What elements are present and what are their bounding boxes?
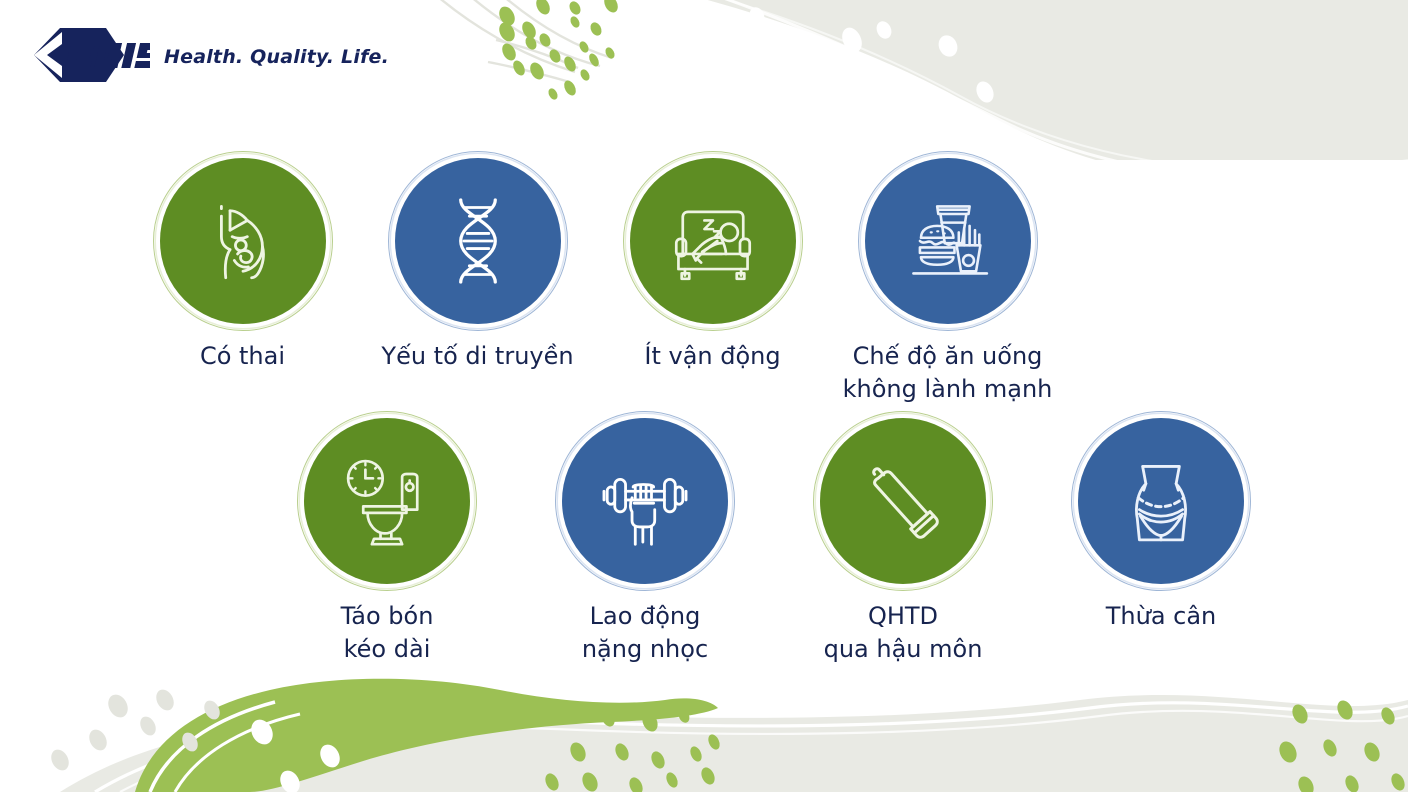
pregnant-woman-icon xyxy=(189,187,297,295)
icon-badge[interactable] xyxy=(630,158,796,324)
egis-hexagon-chevron-logo xyxy=(28,26,150,84)
risk-factor-label: Lao động nặng nhọc xyxy=(582,600,708,666)
person-sleeping-on-couch-icon xyxy=(659,187,767,295)
dna-helix-icon xyxy=(424,187,532,295)
risk-factor-row-2: Táo bón kéo dài xyxy=(258,418,1293,666)
risk-factor-label: Táo bón kéo dài xyxy=(341,600,434,666)
risk-factor-label: Ít vận động xyxy=(644,340,780,373)
overweight-body-measuring-tape-icon xyxy=(1107,447,1215,555)
risk-factor-row-1: Có thai Yếu xyxy=(125,158,1160,406)
icon-badge[interactable] xyxy=(820,418,986,584)
risk-factor-item[interactable]: Ít vận động xyxy=(595,158,830,406)
icon-badge[interactable] xyxy=(1078,418,1244,584)
icon-badge[interactable] xyxy=(865,158,1031,324)
brand-logo: Health. Quality. Life. xyxy=(28,26,389,84)
risk-factor-item[interactable]: Táo bón kéo dài xyxy=(258,418,516,666)
hand-lifting-dumbbell-icon xyxy=(591,447,699,555)
icon-badge[interactable] xyxy=(395,158,561,324)
bottom-green-leaf-dots xyxy=(543,707,722,792)
icon-badge[interactable] xyxy=(160,158,326,324)
risk-factor-item[interactable]: Yếu tố di truyền xyxy=(360,158,595,406)
risk-factor-item[interactable]: QHTD qua hậu môn xyxy=(774,418,1032,666)
risk-factor-label: Chế độ ăn uống không lành mạnh xyxy=(843,340,1053,406)
risk-factor-item[interactable]: Lao động nặng nhọc xyxy=(516,418,774,666)
risk-factor-item[interactable]: Chế độ ăn uống không lành mạnh xyxy=(830,158,1065,406)
icon-badge[interactable] xyxy=(304,418,470,584)
brand-tagline: Health. Quality. Life. xyxy=(164,46,389,68)
bottom-right-green-leaf-dots xyxy=(1276,698,1407,792)
icon-badge[interactable] xyxy=(562,418,728,584)
condom-icon xyxy=(849,447,957,555)
toilet-with-clock-icon xyxy=(333,447,441,555)
risk-factor-item[interactable]: Có thai xyxy=(125,158,360,406)
risk-factor-item[interactable]: Thừa cân xyxy=(1032,418,1290,666)
risk-factor-label: Yếu tố di truyền xyxy=(381,340,573,373)
fast-food-icon xyxy=(894,187,1002,295)
bottom-grey-wave xyxy=(0,679,1408,792)
slide-canvas: Health. Quality. Life. xyxy=(0,0,1408,792)
top-feather-strokes xyxy=(430,0,612,82)
risk-factor-label: Thừa cân xyxy=(1106,600,1217,633)
risk-factor-label: QHTD qua hậu môn xyxy=(824,600,983,666)
top-green-leaf-dots xyxy=(496,0,620,101)
risk-factor-label: Có thai xyxy=(200,340,285,373)
